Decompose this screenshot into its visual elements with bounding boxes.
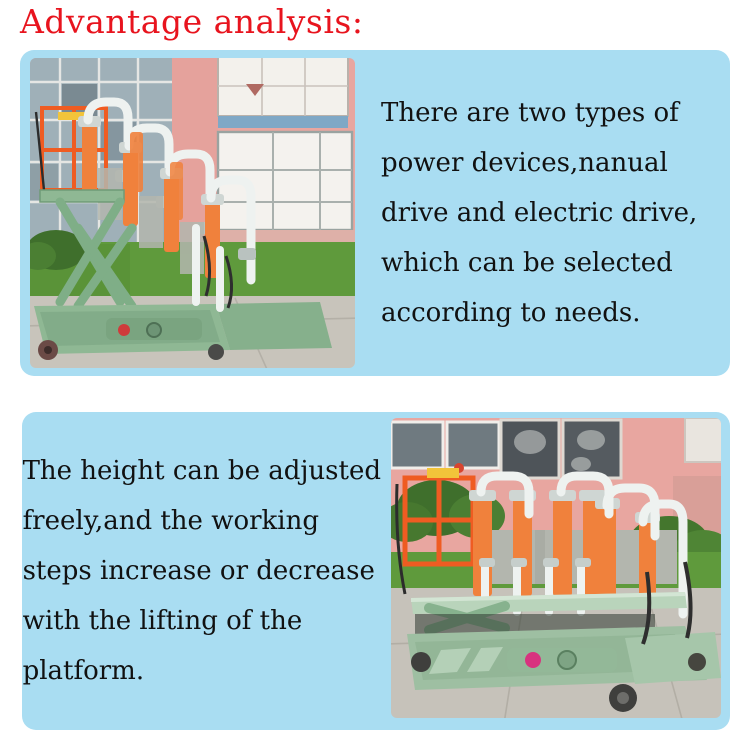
panel-2-line-3: steps increase or decrease (23, 546, 381, 596)
panel-1-text: There are two types of power devices,nan… (365, 50, 730, 376)
advantage-panel-1: There are two types of power devices,nan… (20, 50, 730, 376)
panel-2-line-1: The height can be adjusted (23, 446, 381, 496)
hydraulic-lift-platform-raised-photo (20, 50, 365, 376)
panel-2-text: The height can be adjusted freely,and th… (22, 412, 385, 730)
panel-1-line-5: according to needs. (381, 288, 720, 338)
page-title: Advantage analysis: (20, 2, 363, 41)
advantage-panel-2: The height can be adjusted freely,and th… (22, 412, 730, 730)
lift-platform-lowered-illustration (385, 412, 730, 730)
hydraulic-lift-platform-lowered-photo (385, 412, 730, 730)
panel-2-line-5: platform. (23, 646, 381, 696)
panel-1-line-4: which can be selected (381, 238, 720, 288)
panel-1-line-1: There are two types of (381, 88, 720, 138)
panel-2-line-4: with the lifting of the (23, 596, 381, 646)
panel-2-line-2: freely,and the working (23, 496, 381, 546)
panel-1-line-2: power devices,nanual (381, 138, 720, 188)
panel-1-line-3: drive and electric drive, (381, 188, 720, 238)
lift-platform-raised-illustration (20, 50, 365, 376)
